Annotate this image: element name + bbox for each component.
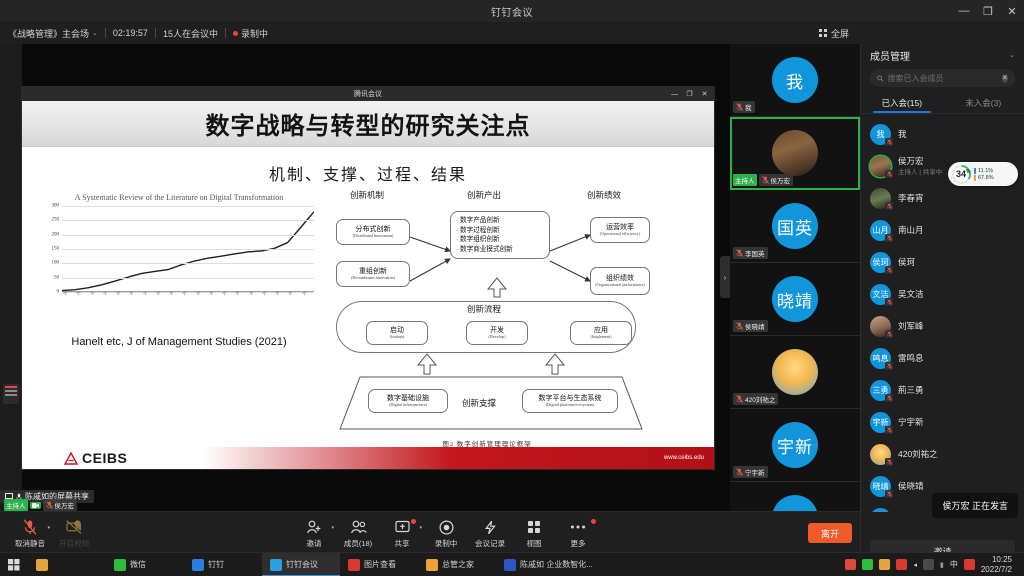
member-avatar: 宇新	[870, 412, 891, 433]
chart-x-tick-label: 2002	[89, 292, 98, 296]
box-label-en: (Operational efficiency)	[600, 232, 640, 237]
member-tabs: 已入会(15) 未入会(3)	[861, 93, 1024, 113]
member-name: 我	[898, 129, 907, 140]
grid-view-icon	[527, 519, 541, 535]
avatar	[772, 130, 818, 176]
share-toolbar-button[interactable]: 共享 ▾	[380, 519, 424, 549]
ime-indicator[interactable]: 中	[950, 559, 958, 570]
member-name: 420刘祐之	[898, 449, 938, 460]
meeting-name-dropdown[interactable]: 《战略管理》主会场 ⌄	[8, 27, 98, 40]
more-alert-dot	[591, 519, 596, 524]
shared-minimize-icon[interactable]: —	[667, 87, 682, 101]
collapse-strip-button[interactable]: ›	[720, 256, 730, 298]
view-toolbar-button[interactable]: 视图	[512, 519, 556, 549]
share-alert-dot	[411, 519, 416, 524]
performance-stats: 11.1% 67.8%	[974, 168, 994, 181]
video-thumbnail[interactable]: 我我	[730, 44, 860, 117]
member-avatar: 国英	[870, 508, 891, 513]
chart-y-tick-label: 150	[52, 247, 60, 252]
member-avatar: 鸣息	[870, 348, 891, 369]
framework-diagram: 创新机制 创新产出 创新绩效 分布式创新 (Distributed Innova…	[322, 189, 652, 439]
chevron-down-icon[interactable]: ⌄	[1009, 51, 1015, 59]
leave-meeting-button[interactable]: 离开	[808, 523, 852, 543]
chart-gridline	[62, 249, 314, 250]
taskbar-item-label: 图片查看	[364, 559, 396, 570]
taskbar-item[interactable]: 微信	[106, 553, 184, 576]
framework-output-list: 数字产品创新 数字过程创新 数字组织创新 数字商业模式创新	[450, 211, 550, 259]
meeting-app-window: 钉钉会议 — ❐ ✕ 《战略管理》主会场 ⌄ 02:19:57 15人在会议中 …	[0, 0, 1024, 576]
member-row[interactable]: 山月南山月	[861, 214, 1024, 246]
slide-body: A Systematic Review of the Literature on…	[22, 185, 714, 469]
shared-application-window: 腾讯会议 — ❐ ✕ 数字战略与转型的研究关注点 机制、支撑、过程、结果 A S…	[22, 87, 714, 469]
window-title-bar: 钉钉会议 — ❐ ✕	[0, 0, 1024, 22]
box-label-en: (Organizational performance)	[595, 283, 645, 288]
maximize-icon[interactable]: ❐	[976, 0, 1000, 22]
member-avatar	[870, 156, 891, 177]
mic-off-icon	[885, 426, 893, 434]
mic-off-icon	[885, 234, 893, 242]
member-info: 420刘祐之	[898, 449, 938, 460]
chart-x-tick-label: 2006	[142, 292, 151, 296]
taskbar-clock[interactable]: 10:25 2022/7/2	[981, 555, 1018, 575]
taskbar-items: 微信钉钉钉钉会议图片查看总管之家陈戚如 企业数智化...	[106, 553, 601, 576]
tray-icon-1[interactable]	[845, 559, 856, 570]
more-toolbar-button[interactable]: 更多	[556, 519, 600, 549]
record-dot-icon	[233, 31, 238, 36]
ceibs-brand: CEIBS	[64, 450, 127, 466]
slide-footer: CEIBS www.ceibs.edu	[22, 447, 714, 469]
camera-toggle-button[interactable]: 开启视频	[52, 519, 96, 549]
shared-close-icon[interactable]: ✕	[697, 87, 712, 101]
camera-icon	[32, 503, 39, 508]
chevron-down-icon[interactable]: ▾	[419, 525, 422, 531]
taskbar-item[interactable]: 图片查看	[340, 553, 418, 576]
participant-name-pill: 侯晓靖	[733, 320, 768, 332]
member-info: 刘军峰	[898, 321, 924, 332]
tab-joined[interactable]: 已入会(15)	[861, 93, 943, 113]
framework-performance-box-1: 运营效率 (Operational efficiency)	[590, 217, 650, 243]
recording-label: 录制中	[241, 27, 268, 40]
os-taskbar: 微信钉钉钉钉会议图片查看总管之家陈戚如 企业数智化... ◂ ▮ 中 10:25…	[0, 552, 1024, 576]
member-info: 侯珂	[898, 257, 915, 268]
output-item: 数字商业模式创新	[456, 245, 544, 255]
box-label-en: (Digital platform/ecosystem)	[546, 403, 595, 408]
framework-process-box-2: 开发 (Develop)	[466, 321, 528, 345]
chart-x-tick-label: 2010	[195, 292, 204, 296]
mic-off-icon	[736, 468, 743, 476]
participant-name: 宁宇新	[745, 467, 765, 477]
memory-stat: 67.8%	[974, 175, 994, 181]
notes-label: 会议记录	[475, 538, 505, 549]
ceibs-logo-icon	[64, 452, 78, 465]
member-name: 侯万宏	[898, 156, 942, 167]
chart-x-tick-label: 2017	[287, 292, 296, 296]
clock-time: 10:25	[981, 555, 1012, 565]
chart-gridline	[62, 235, 314, 236]
chart-x-tick-label: 2012	[221, 292, 230, 296]
avatar: 国英	[772, 203, 818, 249]
share-screen-icon	[395, 519, 410, 535]
participant-name: 侯晓靖	[745, 321, 765, 331]
chart-x-tick-label: 2014	[248, 292, 257, 296]
app-icon	[270, 559, 282, 571]
self-participant-tag: 主持人 侯万宏	[4, 499, 77, 511]
start-button[interactable]	[0, 559, 28, 571]
member-avatar	[870, 316, 891, 337]
thumbnail-name-tag: 我	[733, 101, 755, 113]
camera-on-indicator	[30, 502, 41, 509]
taskbar-item[interactable]: 钉钉	[184, 553, 262, 576]
panel-header: 成员管理 ⌄	[861, 44, 1024, 66]
member-info: 雷鸣息	[898, 353, 924, 364]
avatar	[772, 349, 818, 395]
chart-x-tick-label: 2004	[115, 292, 124, 296]
video-thumbnail[interactable]	[730, 482, 860, 511]
window-controls: — ❐ ✕	[952, 0, 1024, 22]
camera-off-icon	[66, 519, 82, 535]
performance-percent: 34%	[956, 169, 970, 179]
tab-not-joined[interactable]: 未入会(3)	[943, 93, 1024, 113]
self-name: 侯万宏	[55, 500, 75, 510]
output-item: 数字组织创新	[456, 235, 544, 245]
taskbar-item-label: 微信	[130, 559, 146, 570]
framework-mechanism-box-2: 重组创新 (Recombinant innovation)	[336, 261, 410, 287]
invite-toolbar-button[interactable]: 邀请 ▾	[292, 519, 336, 549]
mic-off-icon	[885, 330, 893, 338]
participant-name-pill: 420刘祐之	[733, 393, 778, 405]
participant-name-pill: 李国英	[733, 247, 768, 259]
video-thumbnail[interactable]: 国英李国英	[730, 190, 860, 263]
video-thumbnail[interactable]: 宇新宁宇新	[730, 409, 860, 482]
panel-title: 成员管理	[870, 48, 910, 63]
chart-y-tick-label: 100	[52, 261, 60, 266]
thumbnail-name-tag: 李国英	[733, 247, 768, 259]
member-name: 李春宵	[898, 193, 924, 204]
shared-window-title-bar: 腾讯会议 — ❐ ✕	[22, 87, 714, 101]
slide-header: 数字战略与转型的研究关注点	[22, 101, 714, 147]
host-badge: 主持人	[733, 174, 757, 186]
taskbar-item-label: 陈戚如 企业数智化...	[520, 559, 593, 570]
tray-icon-4[interactable]	[896, 559, 907, 570]
chart-plot-area: 050100150200250300	[62, 206, 314, 292]
member-row[interactable]: 侯珂侯珂	[861, 246, 1024, 278]
app-icon	[114, 559, 126, 571]
battery-icon[interactable]	[923, 559, 934, 570]
system-tray: ◂ ▮ 中 10:25 2022/7/2	[845, 555, 1024, 575]
search-input[interactable]	[888, 74, 998, 83]
thumbnail-name-tag: 宁宇新	[733, 466, 768, 478]
host-badge: 主持人	[4, 499, 28, 511]
member-management-panel: 成员管理 ⌄ ✕ 已入会(15) 未入会(3) 我我侯万宏主持人 | 共享中李春…	[860, 44, 1024, 576]
framework-process-box-3: 应用 (Implement)	[570, 321, 632, 345]
member-name: 南山月	[898, 225, 924, 236]
shared-window-title: 腾讯会议	[354, 89, 382, 99]
divider	[105, 28, 106, 38]
mic-off-icon	[885, 138, 893, 146]
member-info: 我	[898, 129, 907, 140]
chart-gridline	[62, 278, 314, 279]
mic-off-icon	[885, 298, 893, 306]
framework-col3-label: 创新绩效	[587, 189, 621, 201]
mic-off-icon	[885, 170, 893, 178]
member-row[interactable]: 文洁吴文洁	[861, 278, 1024, 310]
box-label-en: (Digital infrastructure)	[389, 403, 427, 408]
framework-performance-box-2: 组织绩效 (Organizational performance)	[590, 267, 650, 295]
box-label-en: (Distributed Innovation)	[353, 234, 394, 239]
chart-gridline	[62, 220, 314, 221]
member-info: 侯万宏主持人 | 共享中	[898, 156, 942, 177]
camera-label: 开启视频	[59, 538, 89, 549]
mic-off-icon	[762, 176, 769, 184]
clear-search-icon[interactable]: ✕	[1002, 74, 1009, 83]
chart-x-tick-label: 2011	[208, 292, 217, 296]
more-label: 更多	[571, 538, 586, 549]
member-avatar	[870, 444, 891, 465]
output-item: 数字过程创新	[456, 226, 544, 236]
member-info: 荊三勇	[898, 385, 924, 396]
chevron-down-icon[interactable]: ▾	[47, 525, 50, 531]
member-avatar: 我	[870, 124, 891, 145]
share-label: 共享	[395, 538, 410, 549]
fullscreen-label: 全屏	[831, 27, 849, 40]
notes-icon	[483, 519, 498, 535]
avatar: 晓靖	[772, 276, 818, 322]
framework-support-label: 创新支撑	[462, 397, 496, 409]
app-icon	[426, 559, 438, 571]
member-role: 主持人 | 共享中	[898, 166, 942, 176]
literature-chart-block: A Systematic Review of the Literature on…	[34, 193, 324, 348]
chart-x-tick-label: 2015	[261, 292, 270, 296]
meeting-info-bar: 《战略管理》主会场 ⌄ 02:19:57 15人在会议中 录制中 全屏	[0, 22, 1024, 44]
mic-off-icon	[885, 266, 893, 274]
chart-x-tick-label: 2018	[301, 292, 310, 296]
network-icon[interactable]: ▮	[940, 561, 944, 569]
member-avatar	[870, 188, 891, 209]
chart-x-tick-label: 2001	[75, 292, 84, 296]
member-row[interactable]: 我我	[861, 118, 1024, 150]
windows-logo-icon	[8, 559, 20, 571]
chart-x-tick-label: 2005	[128, 292, 137, 296]
slide-title: 数字战略与转型的研究关注点	[206, 106, 531, 141]
chart-title: A Systematic Review of the Literature on…	[34, 193, 324, 202]
chart-x-axis: 2000200120022003200420052006200720082009…	[62, 292, 314, 318]
annotation-toolbar-thumbnail[interactable]	[3, 384, 19, 404]
slide-subtitle: 机制、支撑、过程、结果	[22, 161, 714, 185]
member-avatar: 山月	[870, 220, 891, 241]
tray-expand-icon[interactable]: ◂	[913, 561, 917, 569]
speaking-toast: 侯万宏 正在发言	[932, 493, 1018, 518]
participant-name: 我	[745, 102, 752, 112]
meeting-timer: 02:19:57	[113, 28, 148, 38]
framework-process-label: 创新流程	[467, 303, 501, 315]
fullscreen-icon	[819, 29, 827, 37]
chart-y-tick-label: 50	[54, 275, 59, 280]
participant-name-pill: 宁宇新	[733, 466, 768, 478]
chevron-down-icon[interactable]: ▾	[331, 525, 334, 531]
member-name: 吴文洁	[898, 289, 924, 300]
participant-name: 李国英	[745, 248, 765, 258]
mic-off-icon	[885, 490, 893, 498]
taskbar-item-label: 钉钉会议	[286, 559, 318, 570]
taskbar-item[interactable]: 钉钉会议	[262, 553, 340, 576]
chart-y-tick-label: 0	[57, 290, 60, 295]
output-item: 数字产品创新	[456, 216, 544, 226]
chevron-down-icon: ⌄	[92, 29, 98, 37]
fullscreen-button[interactable]: 全屏	[819, 22, 849, 44]
invite-label: 邀请	[307, 538, 322, 549]
participant-name: 侯万宏	[771, 175, 791, 185]
taskbar-item-label: 总管之家	[442, 559, 474, 570]
chart-x-tick-label: 2000	[62, 292, 71, 296]
cpu-stat: 11.1%	[974, 168, 994, 174]
participant-name-pill: 侯万宏	[759, 174, 794, 186]
taskbar-file-explorer[interactable]	[28, 553, 106, 576]
presentation-slide: 数字战略与转型的研究关注点 机制、支撑、过程、结果 A Systematic R…	[22, 101, 714, 469]
member-row[interactable]: 李春宵	[861, 182, 1024, 214]
framework-col2-label: 创新产出	[467, 189, 501, 201]
app-icon	[348, 559, 360, 571]
member-avatar: 三勇	[870, 380, 891, 401]
tray-icon-5[interactable]	[964, 559, 975, 570]
chart-x-tick-label: 2003	[102, 292, 111, 296]
tray-icon-3[interactable]	[879, 559, 890, 570]
mic-off-icon	[736, 395, 743, 403]
member-avatar: 侯珂	[870, 252, 891, 273]
mic-label: 取消静音	[15, 538, 45, 549]
member-avatar: 文洁	[870, 284, 891, 305]
chart-x-tick-label: 2008	[168, 292, 177, 296]
members-label: 成员(18)	[344, 538, 372, 549]
member-row[interactable]: 420刘祐之	[861, 438, 1024, 470]
clock-date: 2022/7/2	[981, 565, 1012, 575]
taskbar-item[interactable]: 陈戚如 企业数智化...	[496, 553, 601, 576]
member-name: 侯晓靖	[898, 481, 924, 492]
self-name-pill: 侯万宏	[43, 499, 78, 511]
mic-off-icon	[885, 362, 893, 370]
mic-toggle-button[interactable]: 取消静音 ▾	[8, 519, 52, 549]
member-info: 南山月	[898, 225, 924, 236]
member-info: 吴文洁	[898, 289, 924, 300]
framework-support-box-2: 数字平台与生态系统 (Digital platform/ecosystem)	[522, 389, 618, 413]
chart-x-tick-label: 2009	[181, 292, 190, 296]
mic-off-icon	[736, 249, 743, 257]
member-name: 侯珂	[898, 257, 915, 268]
app-icon	[504, 559, 516, 571]
video-thumbnail-strip[interactable]: 我我主持人侯万宏国英李国英晓靖侯晓靖420刘祐之宇新宁宇新	[730, 44, 860, 511]
record-label: 录制中	[435, 538, 458, 549]
record-toolbar-button[interactable]: 录制中	[424, 519, 468, 549]
ceibs-wordmark: CEIBS	[82, 450, 127, 466]
member-row[interactable]: 宇新宁宇新	[861, 406, 1024, 438]
video-thumbnail[interactable]: 晓靖侯晓靖	[730, 263, 860, 336]
chart-gridline	[62, 263, 314, 264]
member-name: 荊三勇	[898, 385, 924, 396]
recording-status: 录制中	[233, 27, 268, 40]
avatar: 我	[772, 57, 818, 103]
member-name: 宁宇新	[898, 417, 924, 428]
framework-support-box-1: 数字基础设施 (Digital infrastructure)	[368, 389, 448, 413]
search-icon	[877, 74, 884, 83]
mic-off-icon	[885, 394, 893, 402]
divider	[225, 28, 226, 38]
add-person-icon	[306, 519, 322, 535]
chart-y-tick-label: 200	[52, 232, 60, 237]
member-name: 刘军峰	[898, 321, 924, 332]
avatar: 宇新	[772, 422, 818, 468]
attendee-count: 15人在会议中	[163, 27, 218, 40]
shared-restore-icon[interactable]: ❐	[682, 87, 697, 101]
member-search-box[interactable]: ✕	[870, 69, 1015, 87]
video-thumbnail[interactable]: 主持人侯万宏	[730, 117, 860, 190]
video-thumbnail[interactable]: 420刘祐之	[730, 336, 860, 409]
box-label-en: (Develop)	[489, 335, 506, 340]
app-icon	[192, 559, 204, 571]
meeting-toolbar: 取消静音 ▾ 开启视频	[0, 511, 860, 556]
framework-mechanism-box-1: 分布式创新 (Distributed Innovation)	[336, 219, 410, 245]
mic-off-icon	[46, 501, 53, 509]
member-avatar: 晓靖	[870, 476, 891, 497]
participant-name-pill: 我	[733, 101, 755, 113]
record-icon	[439, 519, 454, 535]
view-label: 视图	[527, 538, 542, 549]
box-label-en: (Implement)	[591, 335, 612, 340]
thumbnail-name-tag: 主持人侯万宏	[733, 174, 793, 186]
participant-name: 420刘祐之	[745, 394, 775, 404]
framework-col1-label: 创新机制	[350, 189, 384, 201]
member-name: 雷鸣息	[898, 353, 924, 364]
performance-widget[interactable]: 34% 11.1% 67.8%	[948, 162, 1018, 186]
ceibs-url: www.ceibs.edu	[664, 455, 704, 461]
people-icon	[350, 519, 367, 535]
left-rail	[0, 44, 22, 511]
framework-process-box-1: 启动 (Initiate)	[366, 321, 428, 345]
folder-icon	[36, 559, 48, 571]
member-row[interactable]: 刘军峰	[861, 310, 1024, 342]
notes-toolbar-button[interactable]: 会议记录	[468, 519, 512, 549]
members-toolbar-button[interactable]: 成员(18)	[336, 519, 380, 549]
thumbnail-name-tag: 420刘祐之	[733, 393, 778, 405]
chart-y-tick-label: 250	[52, 218, 60, 223]
share-stage: 腾讯会议 — ❐ ✕ 数字战略与转型的研究关注点 机制、支撑、过程、结果 A S…	[0, 44, 730, 511]
box-label-en: (Initiate)	[390, 335, 405, 340]
mic-off-icon	[885, 458, 893, 466]
taskbar-item[interactable]: 总管之家	[418, 553, 496, 576]
mic-off-icon	[23, 519, 37, 535]
window-title: 钉钉会议	[491, 4, 533, 19]
mic-off-icon	[885, 202, 893, 210]
mic-off-icon	[736, 103, 743, 111]
member-row[interactable]: 三勇荊三勇	[861, 374, 1024, 406]
mic-off-icon	[736, 322, 743, 330]
minimize-icon[interactable]: —	[952, 0, 976, 22]
member-row[interactable]: 鸣息雷鸣息	[861, 342, 1024, 374]
avatar	[772, 495, 818, 511]
chart-gridline	[62, 206, 314, 207]
taskbar-item-label: 钉钉	[208, 559, 224, 570]
member-info: 侯晓靖	[898, 481, 924, 492]
divider	[155, 28, 156, 38]
thumbnail-name-tag: 侯晓靖	[733, 320, 768, 332]
chart-x-tick-label: 2016	[274, 292, 283, 296]
toolbar-right-group: 邀请 ▾ 成员(18)	[292, 519, 600, 549]
meeting-name-label: 《战略管理》主会场	[8, 27, 89, 40]
box-label-en: (Recombinant innovation)	[351, 276, 395, 281]
member-info: 李春宵	[898, 193, 924, 204]
chart-y-tick-label: 300	[52, 204, 60, 209]
close-icon[interactable]: ✕	[1000, 0, 1024, 22]
tray-icon-2[interactable]	[862, 559, 873, 570]
more-dots-icon	[570, 519, 586, 535]
